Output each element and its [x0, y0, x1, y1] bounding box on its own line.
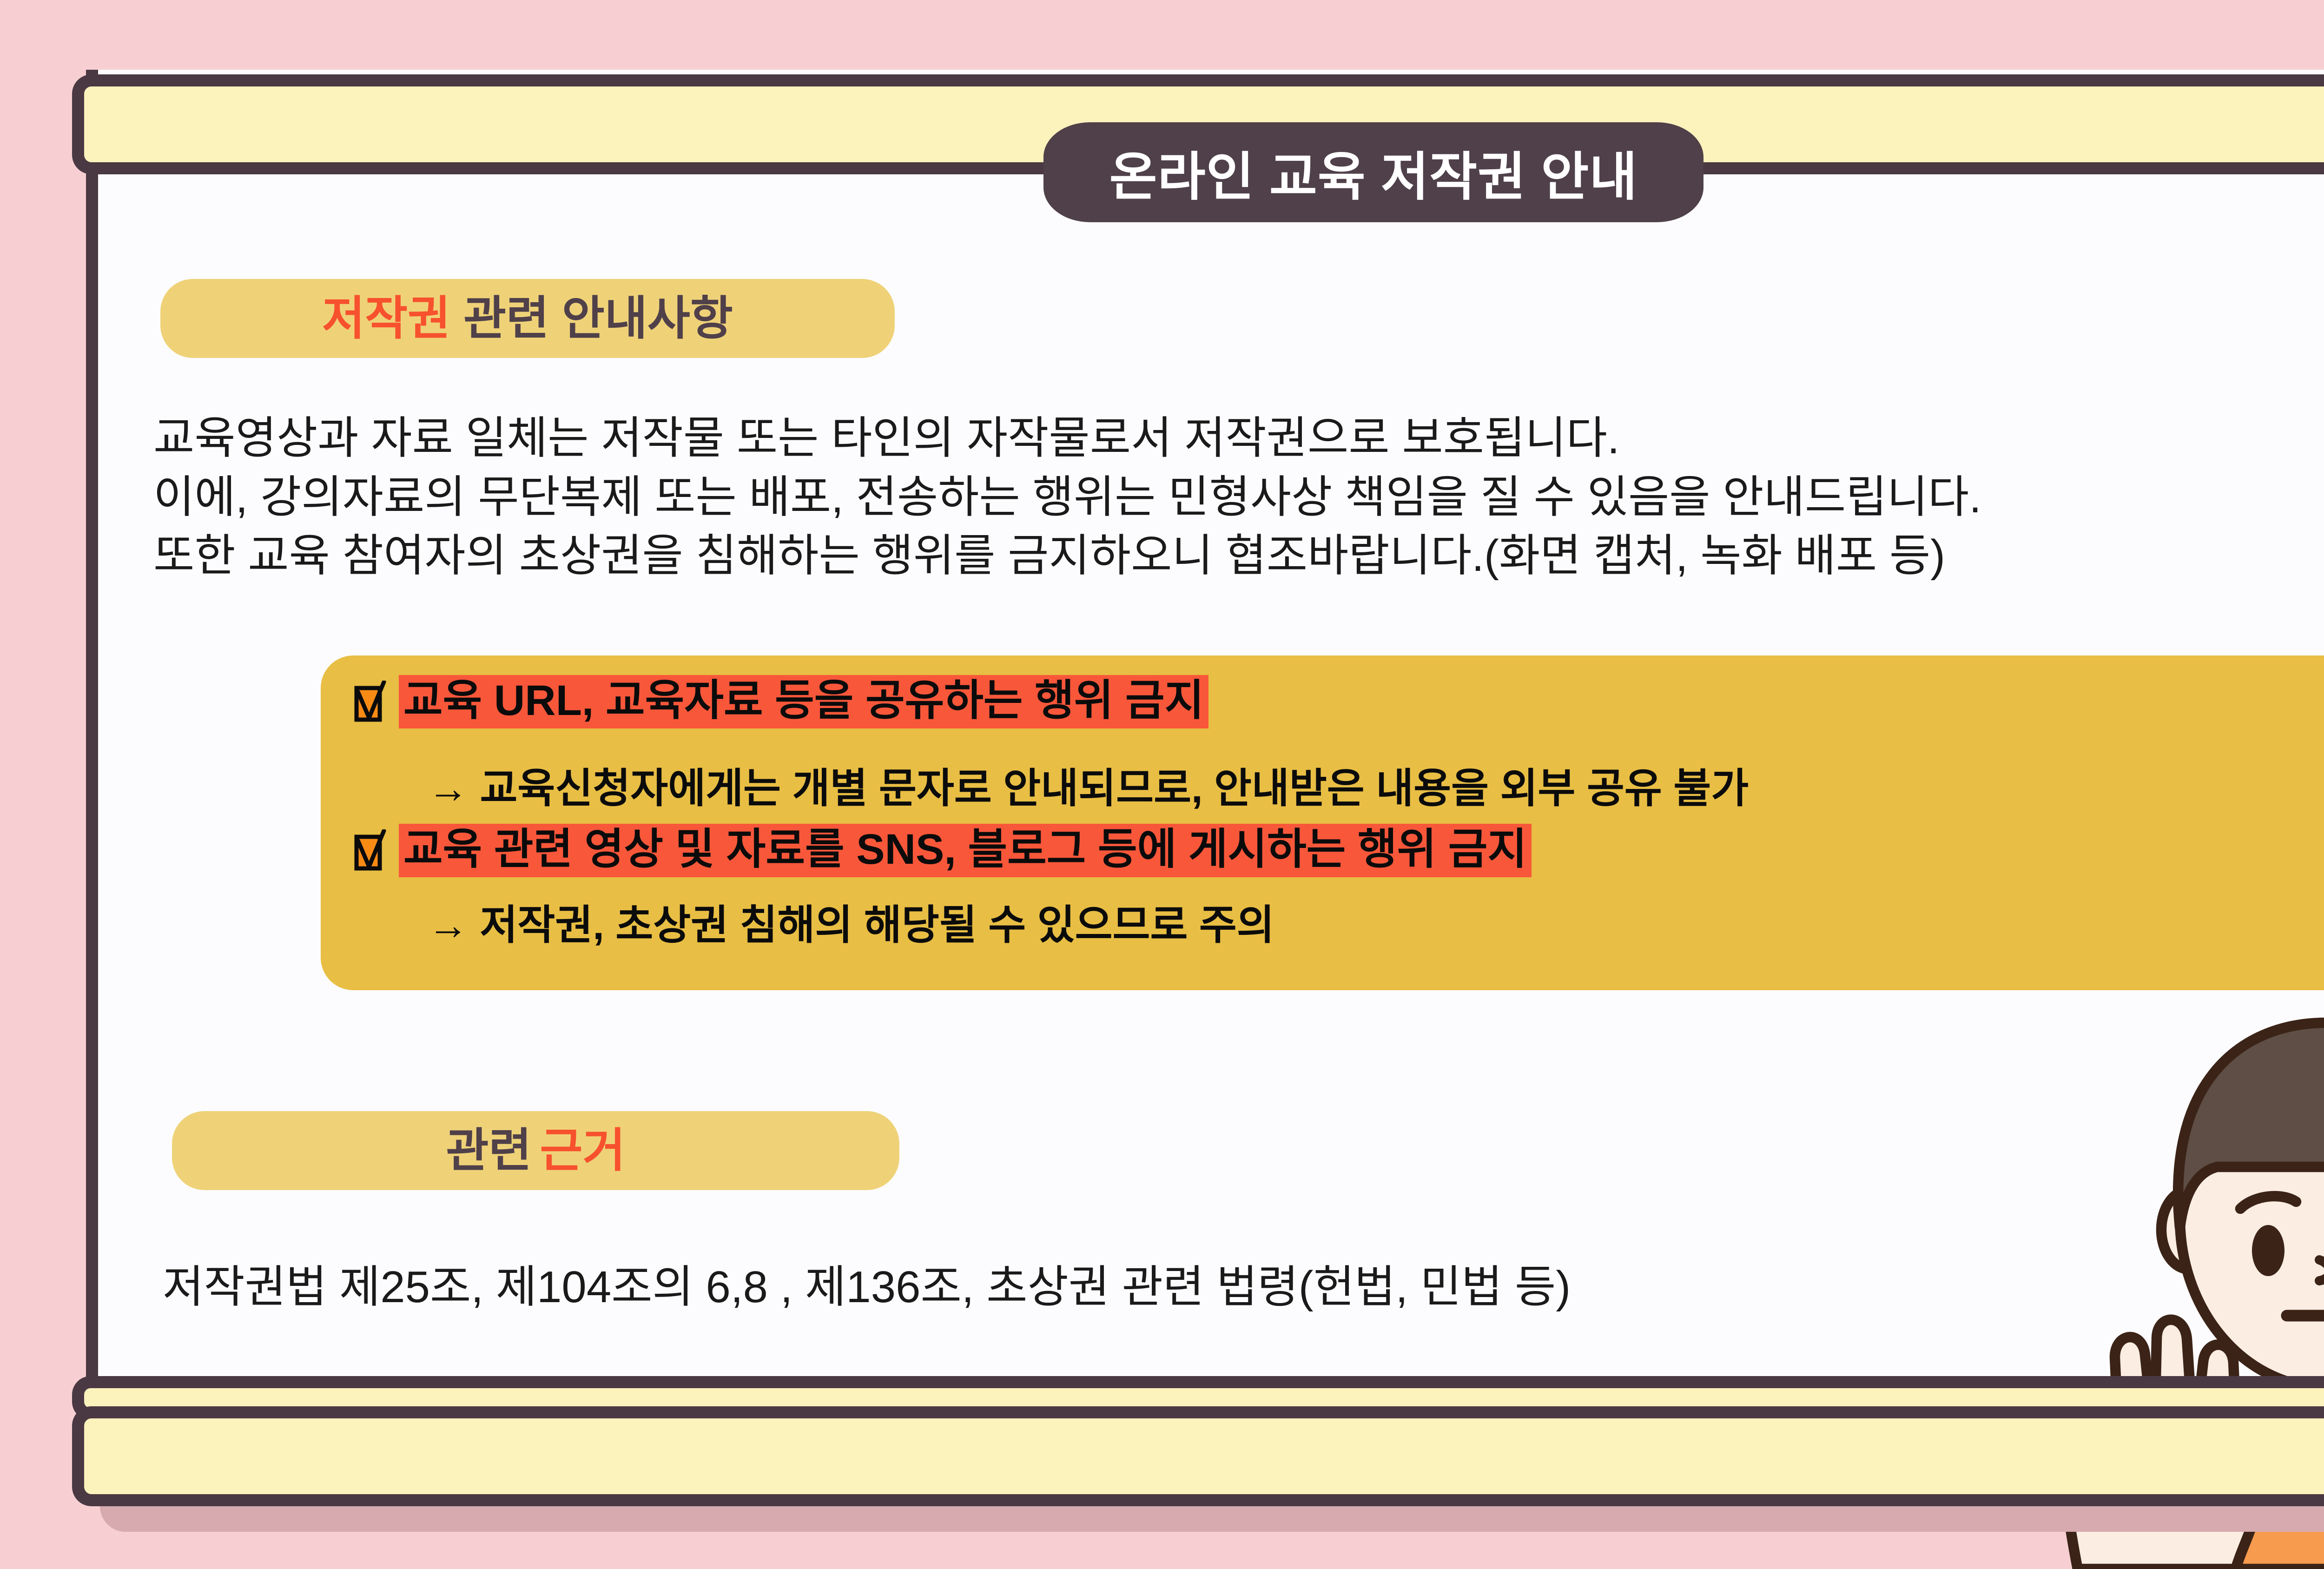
prohibition-note-text: → 저작권, 초상권 침해의 해당될 수 있으므로 주의 [428, 903, 1274, 947]
checked-checkbox-icon [353, 681, 387, 723]
slide-canvas: 온라인 교육 저작권 안내 저작권 관련 안내사항 교육영상과 자료 일체는 저… [0, 0, 2324, 1569]
board-bottom-tray [72, 1406, 2324, 1506]
prohibition-item: 교육 관련 영상 및 자료를 SNS, 블로그 등에 게시하는 행위 금지 [353, 824, 1532, 877]
prohibition-note: → 저작권, 초상권 침해의 해당될 수 있으므로 주의 [428, 903, 1274, 947]
section-header-copyright-rest: 관련 안내사항 [463, 295, 733, 342]
section-header-legal-basis: 관련 근거 [172, 1111, 899, 1190]
paragraph-line: 이에, 강의자료의 무단복제 또는 배포, 전송하는 행위는 민형사상 책임을 … [153, 468, 2324, 527]
paragraph-line: 교육영상과 자료 일체는 저작물 또는 타인의 자작물로서 저작권으로 보호됩니… [153, 409, 2324, 468]
section-header-copyright: 저작권 관련 안내사항 [160, 279, 895, 358]
alarm-siren-icon [2303, 186, 2324, 428]
copyright-paragraph: 교육영상과 자료 일체는 저작물 또는 타인의 자작물로서 저작권으로 보호됩니… [153, 409, 2324, 586]
checked-checkbox-icon [353, 829, 387, 872]
prohibition-highlight-text: 교육 URL, 교육자료 등을 공유하는 행위 금지 [399, 675, 1208, 728]
prohibition-highlight-text: 교육 관련 영상 및 자료를 SNS, 블로그 등에 게시하는 행위 금지 [399, 824, 1532, 877]
legal-basis-text: 저작권법 제25조, 제104조의 6,8 , 제136조, 초상권 관련 법령… [163, 1251, 1571, 1315]
page-title: 온라인 교육 저작권 안내 [1109, 135, 1638, 210]
prohibition-note-text: → 교육신청자에게는 개별 문자로 안내되므로, 안내받은 내용을 외부 공유 … [428, 766, 1749, 810]
prohibition-item: 교육 URL, 교육자료 등을 공유하는 행위 금지 [353, 675, 1208, 728]
page-title-pill: 온라인 교육 저작권 안내 [1043, 122, 1703, 222]
paragraph-line: 또한 교육 참여자의 초상권을 침해하는 행위를 금지하오니 협조바랍니다.(화… [153, 527, 2324, 586]
section-header-legal-basis-accent: 근거 [540, 1127, 626, 1174]
section-header-copyright-accent: 저작권 [322, 295, 450, 342]
prohibition-note: → 교육신청자에게는 개별 문자로 안내되므로, 안내받은 내용을 외부 공유 … [428, 766, 1749, 810]
section-header-legal-basis-rest: 관련 [446, 1127, 532, 1174]
